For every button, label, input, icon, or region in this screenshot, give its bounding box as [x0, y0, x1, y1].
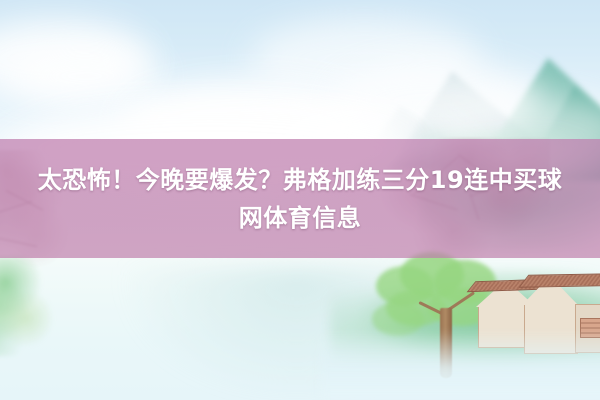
foliage-left: [0, 256, 92, 356]
headline-line-1: 太恐怖！今晚要爆发？弗格加练三分19连中买球: [38, 163, 562, 197]
cloud: [10, 48, 160, 104]
grass-fade: [320, 330, 600, 400]
banner-image: 太恐怖！今晚要爆发？弗格加练三分19连中买球 网体育信息: [0, 0, 600, 400]
headline-text-block: 太恐怖！今晚要爆发？弗格加练三分19连中买球 网体育信息: [0, 139, 600, 258]
house-roof-main: [518, 273, 600, 287]
headline-line-2: 网体育信息: [239, 201, 362, 235]
